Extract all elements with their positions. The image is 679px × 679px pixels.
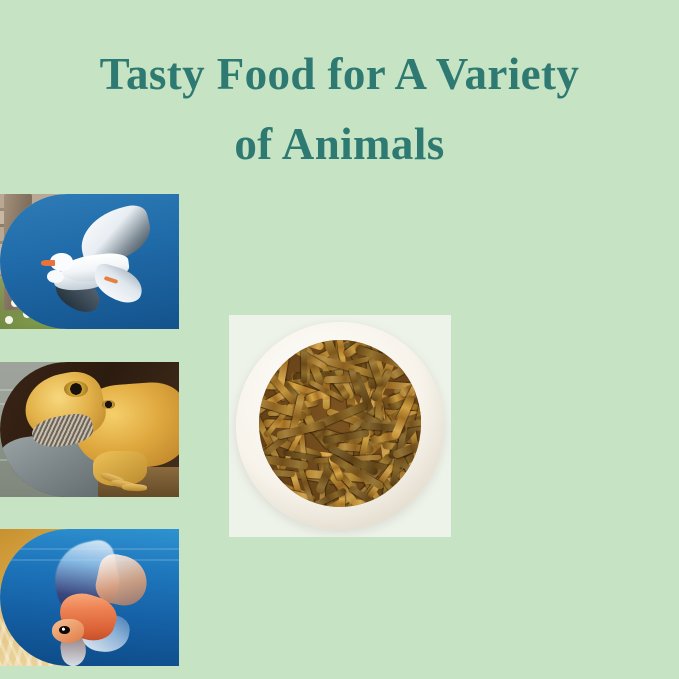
lizard-eye [64, 381, 87, 397]
lizard-toe [122, 483, 147, 491]
white-bowl [236, 322, 445, 531]
seagull-beak [41, 260, 55, 265]
mealworm-bowl-photo [229, 315, 451, 537]
page-title: Tasty Food for A Variety of Animals [0, 52, 679, 167]
title-line-2: of Animals [0, 122, 679, 167]
lizard-eye-far [102, 400, 115, 409]
photo-tile-fish [0, 529, 179, 666]
lizard-photo [0, 362, 179, 497]
poster-canvas: Tasty Food for A Variety of Animals [0, 0, 679, 679]
photo-tile-seagull [0, 194, 179, 329]
fish-photo [0, 529, 179, 666]
mealworm [300, 347, 307, 384]
title-line-1: Tasty Food for A Variety [0, 52, 679, 97]
photo-tile-mealworm-bowl [229, 315, 451, 537]
photo-tile-lizard [0, 362, 179, 497]
seagull-photo [0, 194, 179, 329]
mealworm-pile [259, 340, 422, 507]
